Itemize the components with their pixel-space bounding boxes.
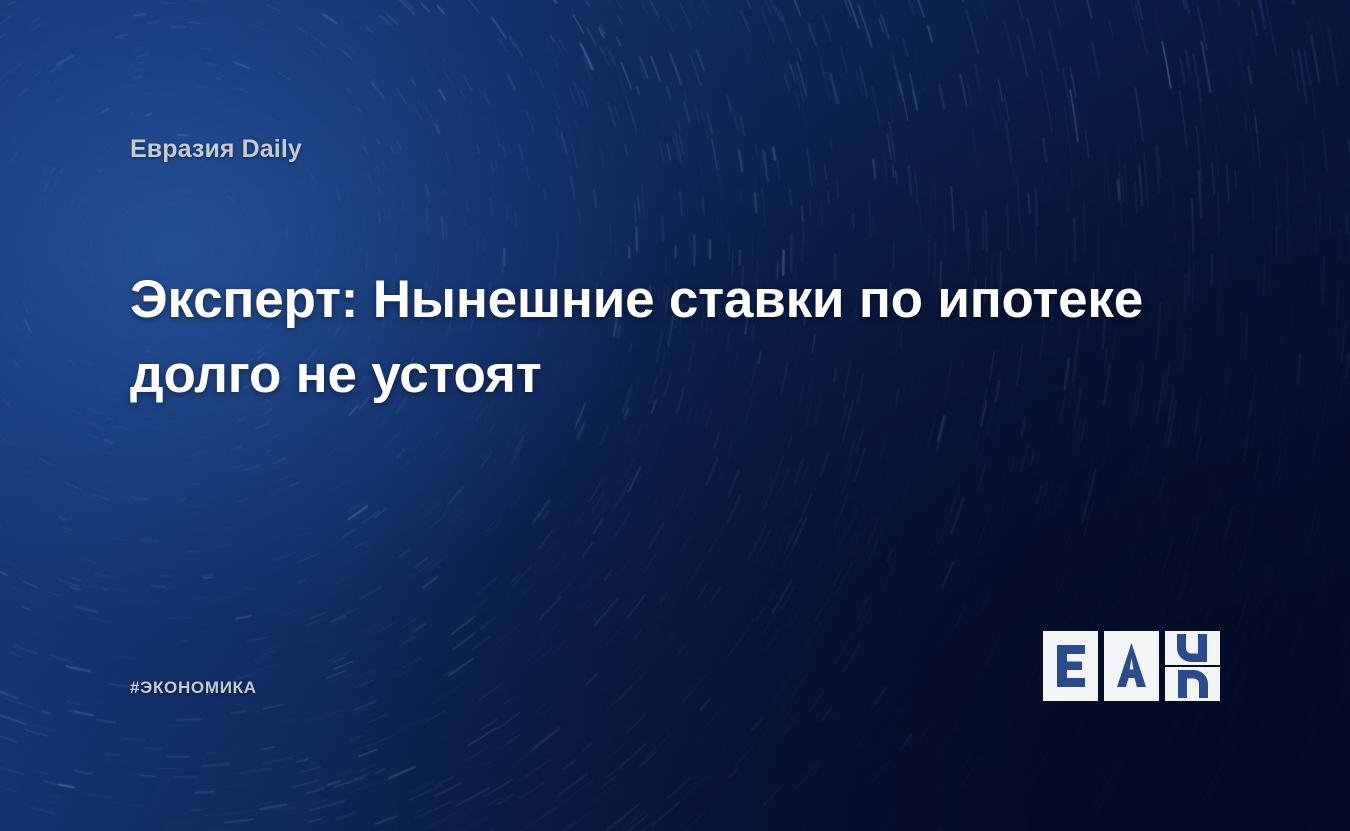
article-headline: Эксперт: Нынешние ставки по ипотеке долг… xyxy=(130,262,1220,413)
logo-tile-d-bottom-half xyxy=(1165,667,1220,701)
site-name: Евразия Daily xyxy=(130,136,302,164)
logo-tile-e xyxy=(1043,631,1098,701)
headline-line-1: Эксперт: Нынешние ставки по ипотеке xyxy=(130,262,1220,337)
card-content: Евразия Daily Эксперт: Нынешние ставки п… xyxy=(0,0,1350,831)
logo-tile-d-top-half xyxy=(1165,631,1220,665)
logo-tile-a xyxy=(1104,631,1159,701)
headline-line-2: долго не устоят xyxy=(130,337,1220,412)
category-hashtag[interactable]: #ЭКОНОМИКА xyxy=(130,678,257,698)
eadaily-logo[interactable] xyxy=(1043,631,1221,701)
social-share-card: Евразия Daily Эксперт: Нынешние ставки п… xyxy=(0,0,1350,831)
logo-tile-d xyxy=(1165,631,1220,701)
